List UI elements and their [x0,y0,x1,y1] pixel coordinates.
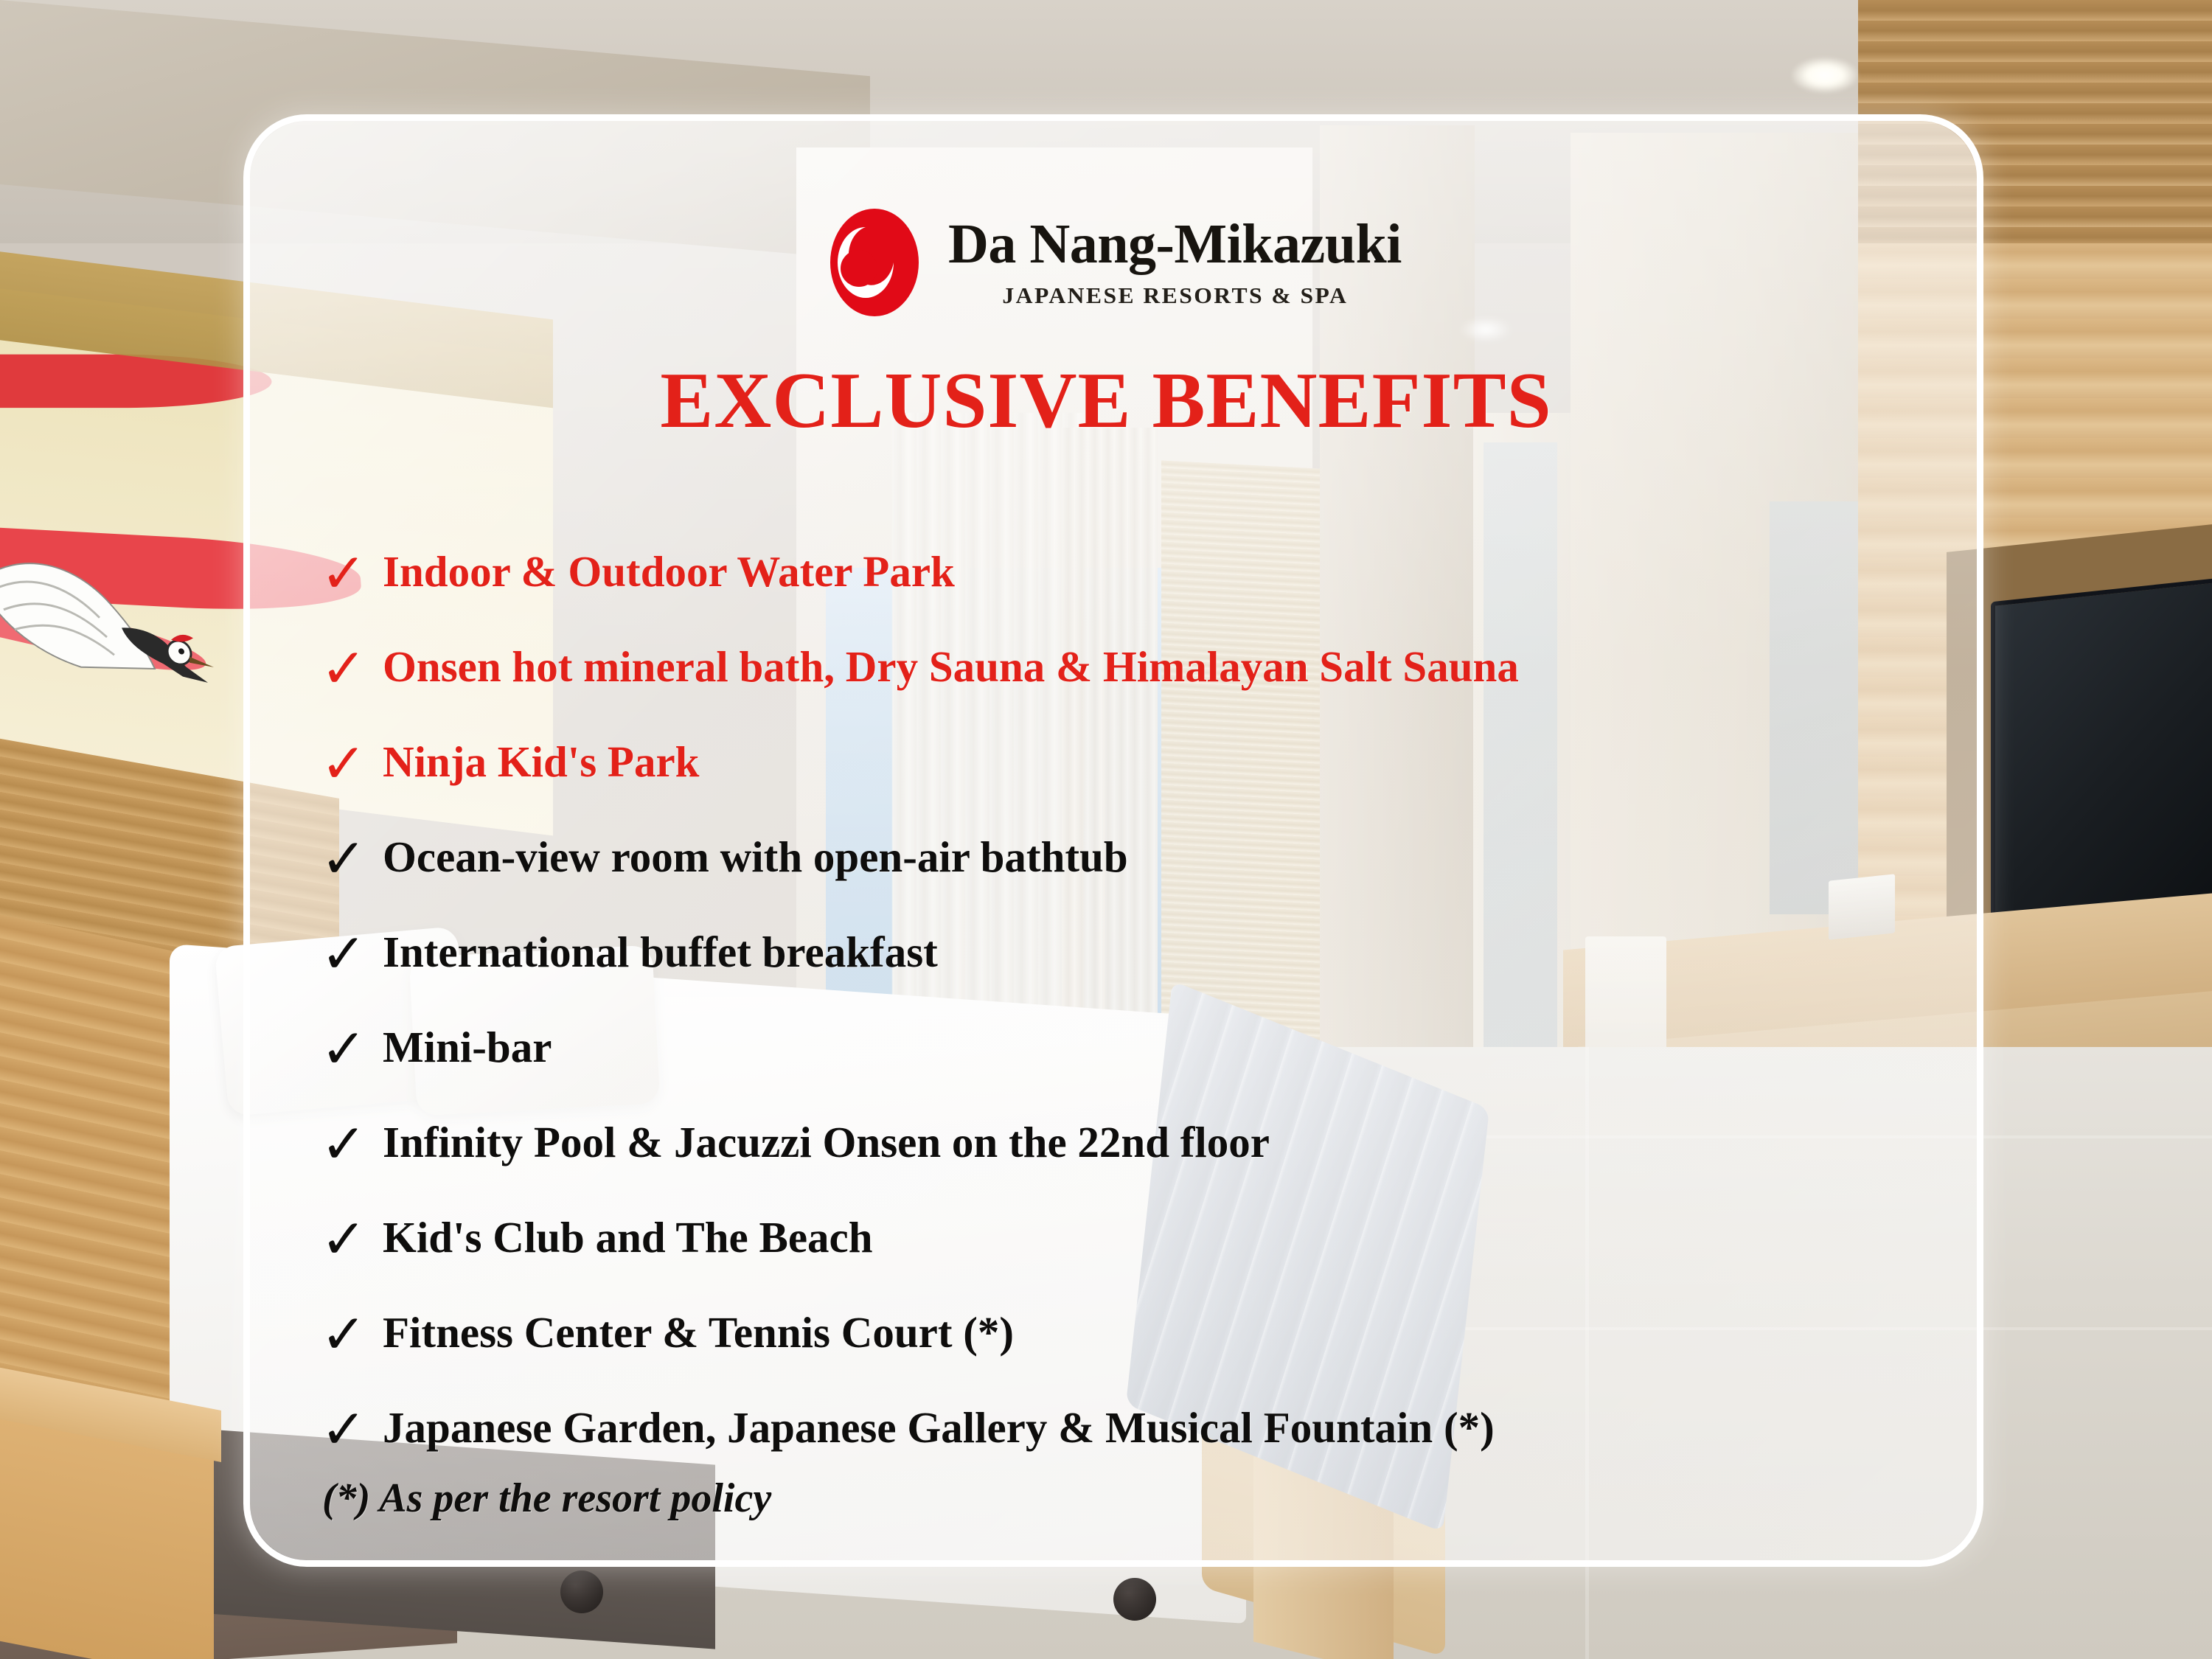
list-item-label: International buffet breakfast [366,930,938,975]
brand-name: Da Nang-Mikazuki [948,216,1402,272]
list-item-label: Kid's Club and The Beach [366,1215,873,1261]
check-icon: ✓ [321,737,366,791]
check-icon: ✓ [321,1022,366,1077]
list-item: ✓ Ocean-view room with open-air bathtub [321,835,1722,930]
list-item-label: Mini-bar [366,1025,552,1071]
list-item: ✓ Kid's Club and The Beach [321,1215,1722,1310]
brand-tagline: JAPANESE RESORTS & SPA [1002,282,1348,309]
wall-mounted-tv [1991,578,2212,928]
list-item-label: Onsen hot mineral bath, Dry Sauna & Hima… [366,644,1519,690]
list-item-label: Ninja Kid's Park [366,740,699,785]
check-icon: ✓ [321,1117,366,1172]
mikazuki-crescent-logo-icon [826,206,923,319]
bed-wheel [560,1571,603,1613]
list-item: ✓ Indoor & Outdoor Water Park [321,549,1722,644]
check-icon: ✓ [321,546,366,601]
list-item: ✓ International buffet breakfast [321,930,1722,1025]
brand-logotype: Da Nang-Mikazuki JAPANESE RESORTS & SPA [948,216,1402,309]
list-item: ✓ Fitness Center & Tennis Court (*) [321,1310,1722,1405]
list-item-label: Ocean-view room with open-air bathtub [366,835,1128,880]
check-icon: ✓ [321,1212,366,1267]
list-item: ✓ Infinity Pool & Jacuzzi Onsen on the 2… [321,1120,1722,1215]
brand-logo: Da Nang-Mikazuki JAPANESE RESORTS & SPA [826,206,1402,319]
list-item-label: Japanese Garden, Japanese Gallery & Musi… [366,1405,1495,1451]
list-item: ✓ Ninja Kid's Park [321,740,1722,835]
list-item-label: Infinity Pool & Jacuzzi Onsen on the 22n… [366,1120,1270,1166]
list-item: ✓ Mini-bar [321,1025,1722,1120]
bed-wheel [1113,1578,1156,1621]
check-icon: ✓ [321,927,366,981]
list-item: ✓ Onsen hot mineral bath, Dry Sauna & Hi… [321,644,1722,740]
benefits-list: ✓ Indoor & Outdoor Water Park ✓ Onsen ho… [321,549,1722,1500]
ceiling-spotlight [1792,58,1858,93]
check-icon: ✓ [321,641,366,696]
list-item-label: Indoor & Outdoor Water Park [366,549,955,595]
crane-icon [0,469,214,720]
list-item-label: Fitness Center & Tennis Court (*) [366,1310,1014,1356]
check-icon: ✓ [321,832,366,886]
check-icon: ✓ [321,1307,366,1362]
poster-canvas: Da Nang-Mikazuki JAPANESE RESORTS & SPA … [0,0,2212,1659]
check-icon: ✓ [321,1402,366,1457]
page-title: EXCLUSIVE BENEFITS [0,361,2212,441]
footnote: (*) As per the resort policy [322,1475,771,1522]
